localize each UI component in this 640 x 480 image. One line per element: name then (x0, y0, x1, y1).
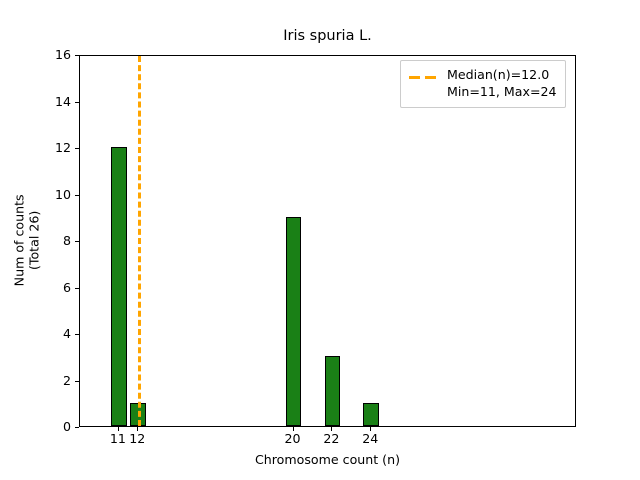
x-tick-mark (137, 427, 138, 431)
x-tick-mark (331, 427, 332, 431)
legend-entry: Median(n)=12.0 Min=11, Max=24 (409, 67, 557, 100)
x-tick-label: 12 (117, 431, 157, 446)
x-tick-label: 24 (350, 431, 390, 446)
x-tick-label: 20 (273, 431, 313, 446)
legend-entry-label: Median(n)=12.0 Min=11, Max=24 (447, 67, 557, 100)
x-tick-mark (370, 427, 371, 431)
y-tick-label: 14 (37, 94, 71, 109)
chart-title: Iris spuria L. (79, 28, 576, 44)
median-line-icon (138, 56, 141, 426)
y-tick-label: 10 (37, 187, 71, 202)
y-tick-mark (75, 427, 79, 428)
y-tick-label: 12 (37, 140, 71, 155)
plot-area (79, 55, 576, 427)
chart-figure: Iris spuria L. Num of counts (Total 26) … (0, 0, 640, 480)
x-tick-mark (293, 427, 294, 431)
y-tick-label: 4 (37, 326, 71, 341)
x-tick-label: 22 (311, 431, 351, 446)
x-axis-label: Chromosome count (n) (79, 452, 576, 467)
legend-line-1: Median(n)=12.0 (447, 67, 549, 82)
y-tick-label: 6 (37, 280, 71, 295)
y-tick-label: 16 (37, 47, 71, 62)
y-tick-label: 8 (37, 233, 71, 248)
chart-legend: Median(n)=12.0 Min=11, Max=24 (400, 60, 566, 108)
legend-line-2: Min=11, Max=24 (447, 84, 557, 101)
y-tick-label: 0 (37, 419, 71, 434)
y-tick-label: 2 (37, 373, 71, 388)
median-line-layer (80, 56, 575, 426)
dashed-line-icon (409, 70, 440, 84)
